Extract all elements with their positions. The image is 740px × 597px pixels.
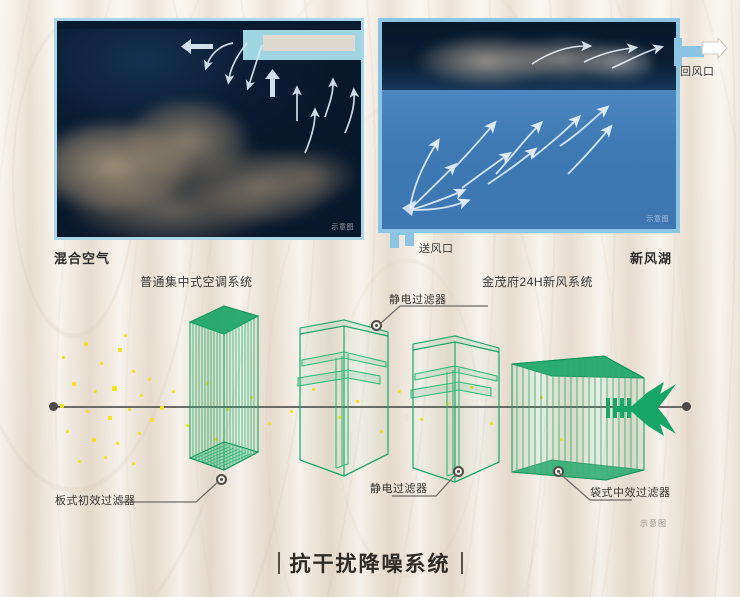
badge-fresh-air-lake: 新风湖 xyxy=(630,248,672,267)
airflow-arrows-right xyxy=(382,22,676,229)
label-supply-air-outlet: 送风口 xyxy=(419,240,454,256)
label-stage-4: 袋式中效过滤器 xyxy=(590,484,671,500)
caption-jinmao-system: 金茂府24H新风系统 xyxy=(482,273,593,290)
axis-endpoint-left xyxy=(49,402,58,411)
panel-left-frame: 示意图 xyxy=(54,18,364,240)
label-stage-1: 板式初效过滤器 xyxy=(55,492,136,508)
return-duct-elbow xyxy=(674,38,682,66)
page-root: 示意图 混合空气 普通集中式空调系统 xyxy=(0,0,740,597)
watermark-left: 示意图 xyxy=(332,222,355,232)
airflow-split-arrow-icon xyxy=(608,378,678,440)
title-text: 抗干扰降噪系统 xyxy=(290,548,451,578)
watermark-diagram: 示意图 xyxy=(640,518,667,529)
caption-conventional-system: 普通集中式空调系统 xyxy=(140,273,253,290)
panel-right-frame: 示意图 xyxy=(378,18,680,233)
filter-unit-1 xyxy=(176,300,286,490)
bottom-title: 抗干扰降噪系统 xyxy=(0,548,740,578)
badge-mixed-air: 混合空气 xyxy=(54,248,110,267)
axis-endpoint-right xyxy=(682,402,691,411)
title-divider-left xyxy=(278,552,280,574)
filter-unit-2 xyxy=(292,312,412,492)
label-stage-3: 静电过滤器 xyxy=(370,480,428,496)
title-divider-right xyxy=(461,552,463,574)
panel-conventional-ac: 示意图 xyxy=(54,18,364,240)
panel-fresh-air-system: 示意图 xyxy=(378,18,680,233)
filter-train-diagram: 板式初效过滤器 静 xyxy=(0,290,740,550)
label-stage-2: 静电过滤器 xyxy=(389,291,447,307)
airflow-arrows-left xyxy=(57,21,361,237)
return-air-arrow-icon xyxy=(700,38,728,64)
supply-duct-pipe xyxy=(390,229,414,235)
watermark-right: 示意图 xyxy=(647,214,670,224)
label-return-air-outlet: 回风口 xyxy=(680,63,715,79)
